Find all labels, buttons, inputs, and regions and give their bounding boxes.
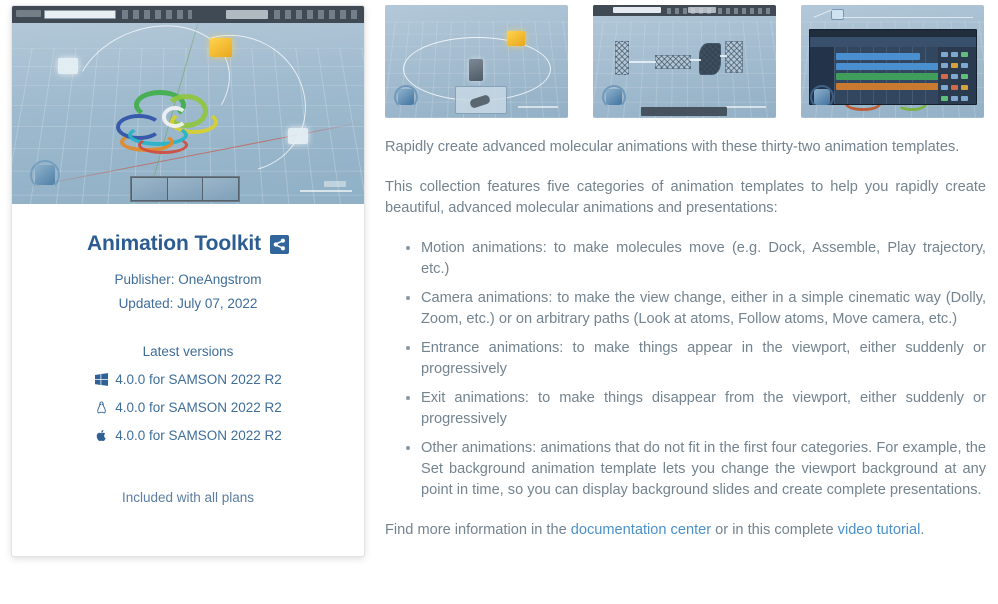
- viewport-toolbar: [12, 6, 364, 23]
- list-item: Motion animations: to make molecules mov…: [421, 238, 986, 280]
- plans-label: Included with all plans: [28, 490, 348, 505]
- timeline-track-3: [836, 73, 940, 80]
- footer-text-mid: or in this complete: [711, 522, 838, 538]
- camera-node: [831, 9, 844, 20]
- navigation-cube: [394, 85, 418, 109]
- scene-object: [469, 59, 483, 81]
- version-label: 4.0.0 for SAMSON 2022 R2: [115, 428, 282, 443]
- version-label: 4.0.0 for SAMSON 2022 R2: [115, 372, 282, 387]
- scale-bar-label: [324, 181, 346, 187]
- video-tutorial-link[interactable]: video tutorial: [838, 522, 921, 538]
- linux-icon: [94, 401, 108, 415]
- nanotube-left: [615, 41, 629, 75]
- updated-label: Updated: July 07, 2022: [28, 296, 348, 311]
- link-3: [720, 55, 727, 57]
- preview-panel: [455, 86, 507, 114]
- navigation-cube: [810, 85, 834, 109]
- share-icon[interactable]: [270, 235, 289, 254]
- description-footer: Find more information in the documentati…: [385, 520, 986, 541]
- product-page: Animation Toolkit Publisher: OneAngstrom…: [0, 0, 998, 604]
- publisher-label: Publisher: OneAngstrom: [28, 272, 348, 287]
- thumbnail-strip: [385, 5, 986, 118]
- version-row-windows[interactable]: 4.0.0 for SAMSON 2022 R2: [28, 372, 348, 387]
- keyframe-marker-yellow: [507, 31, 525, 46]
- list-item: Other animations: animations that do not…: [421, 438, 986, 501]
- keyframe-marker-yellow: [210, 38, 232, 57]
- thumbnail-orbit-camera-animation[interactable]: [385, 5, 568, 118]
- camera-path: [814, 9, 833, 17]
- latest-versions-heading: Latest versions: [28, 344, 348, 359]
- thumbnail-animation-timeline-editor[interactable]: [801, 5, 984, 118]
- page-title: Animation Toolkit: [87, 232, 261, 256]
- timeline-track-2: [836, 63, 948, 70]
- timeline-track-4: [836, 83, 940, 90]
- footer-text-post: .: [920, 522, 924, 538]
- version-row-apple[interactable]: 4.0.0 for SAMSON 2022 R2: [28, 428, 348, 443]
- footer-text-pre: Find more information in the: [385, 522, 571, 538]
- scale-bar: [518, 106, 558, 108]
- list-item: Camera animations: to make the view chan…: [421, 288, 986, 330]
- scale-bar: [300, 190, 352, 192]
- navigation-cube: [602, 85, 626, 109]
- apple-icon: [94, 429, 108, 443]
- description: Rapidly create advanced molecular animat…: [385, 137, 986, 541]
- navigation-cube: [30, 160, 60, 190]
- version-row-linux[interactable]: 4.0.0 for SAMSON 2022 R2: [28, 400, 348, 415]
- camera-path-2: [843, 17, 973, 18]
- nanosheet-center: [655, 55, 691, 69]
- documentation-center-link[interactable]: documentation center: [571, 522, 711, 538]
- timeline-window: [809, 29, 977, 105]
- storyboard-filmstrip: [130, 176, 240, 202]
- card-body: Animation Toolkit Publisher: OneAngstrom…: [12, 204, 364, 505]
- category-list: Motion animations: to make molecules mov…: [385, 238, 986, 501]
- right-column: Rapidly create advanced molecular animat…: [385, 5, 986, 541]
- camera-node-2: [288, 128, 308, 144]
- nanotube-right: [725, 41, 743, 73]
- windows-icon: [94, 373, 108, 387]
- link-2: [690, 59, 701, 61]
- list-item: Exit animations: to make things disappea…: [421, 388, 986, 430]
- version-label: 4.0.0 for SAMSON 2022 R2: [115, 400, 282, 415]
- bottom-toolbar: [641, 107, 727, 116]
- description-lead: This collection features five categories…: [385, 177, 986, 219]
- camera-node-1: [58, 58, 78, 74]
- product-card: Animation Toolkit Publisher: OneAngstrom…: [11, 5, 365, 557]
- title-row: Animation Toolkit: [28, 232, 348, 256]
- list-item: Entrance animations: to make things appe…: [421, 338, 986, 380]
- scale-bar: [726, 106, 766, 108]
- nanostructure-folded: [699, 43, 721, 75]
- description-intro: Rapidly create advanced molecular animat…: [385, 137, 986, 158]
- link-1: [629, 61, 656, 63]
- timeline-track-1: [836, 53, 920, 60]
- molecule-ribbon: [108, 84, 238, 156]
- hero-image[interactable]: [12, 6, 364, 204]
- thumbnail-nanotube-assembly-animation[interactable]: [593, 5, 776, 118]
